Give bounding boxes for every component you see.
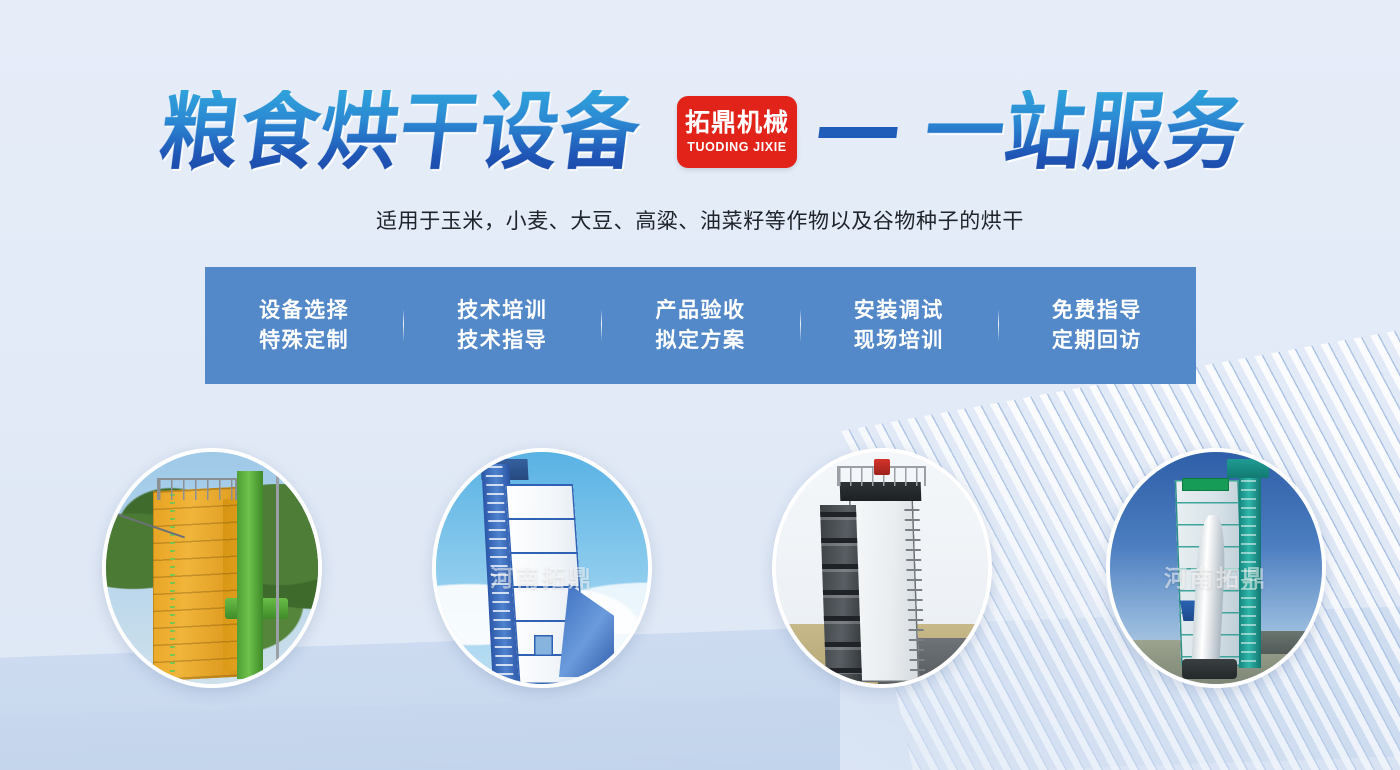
feature-line-2: 技术指导 [457,326,547,356]
brand-logo-pinyin: TUODING JIXIE [687,140,786,154]
feature-line-1: 设备选择 [259,296,349,326]
photo-watermark: 河南拓鼎 [436,559,648,593]
photo-circle-yellow-dryer[interactable] [102,448,322,688]
feature-line-2: 定期回访 [1052,326,1142,356]
feature-item-product-acceptance[interactable]: 产品验收 拟定方案 [601,296,799,356]
headline-row: 粮食烘干设备 拓鼎机械 TUODING JIXIE 一站服务 [0,78,1400,186]
feature-line-2: 拟定方案 [656,326,746,356]
feature-item-free-guidance[interactable]: 免费指导 定期回访 [998,296,1196,356]
feature-line-1: 免费指导 [1052,296,1142,326]
feature-line-2: 现场培训 [854,326,944,356]
headline-title-right: 一站服务 [920,90,1250,174]
feature-line-2: 特殊定制 [259,326,349,356]
feature-bar: 设备选择 特殊定制 技术培训 技术指导 产品验收 拟定方案 安装调试 现场培训 … [205,267,1196,384]
photo-scene-3 [776,452,988,684]
brand-logo-badge: 拓鼎机械 TUODING JIXIE [677,96,797,168]
banner-stage: 粮食烘干设备 拓鼎机械 TUODING JIXIE 一站服务 适用于玉米，小麦、… [0,0,1400,770]
feature-item-installation-commissioning[interactable]: 安装调试 现场培训 [800,296,998,356]
photo-watermark: 河南拓鼎 [1110,559,1322,593]
photo-circle-gray-dryer[interactable] [772,448,992,688]
headline-title-left: 粮食烘干设备 [155,90,645,174]
feature-item-equipment-selection[interactable]: 设备选择 特殊定制 [205,296,403,356]
feature-line-1: 技术培训 [457,296,547,326]
feature-line-1: 安装调试 [854,296,944,326]
photo-scene-1 [106,452,318,684]
brand-logo-chinese: 拓鼎机械 [685,110,789,136]
feature-item-technical-training[interactable]: 技术培训 技术指导 [403,296,601,356]
headline-dash-icon [818,127,897,138]
photo-gallery: 河南拓鼎 河南拓鼎 [0,448,1400,680]
photo-circle-blue-white-dryer[interactable]: 河南拓鼎 [432,448,652,688]
feature-line-1: 产品验收 [656,296,746,326]
photo-circle-teal-dryer[interactable]: 河南拓鼎 [1106,448,1326,688]
banner-subtitle: 适用于玉米，小麦、大豆、高粱、油菜籽等作物以及谷物种子的烘干 [0,205,1400,235]
